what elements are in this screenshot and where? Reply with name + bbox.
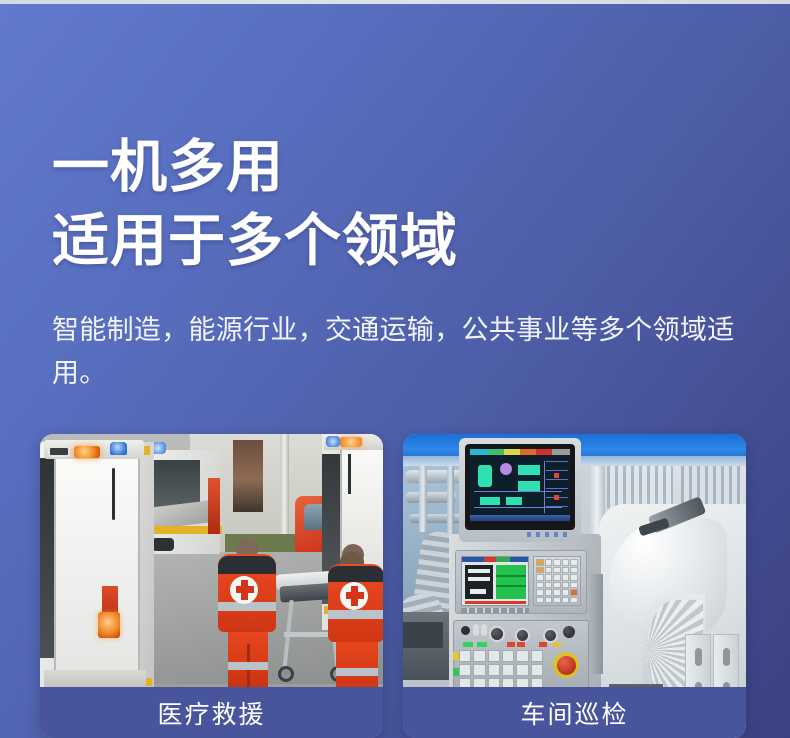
feature-card-workshop-inspection[interactable]: 车间巡检 [403,434,746,738]
subtitle-text: 智能制造，能源行业，交通运输，公共事业等多个领域适用。 [52,309,758,395]
feature-card-medical-rescue[interactable]: 医疗救援 [40,434,383,738]
cnc-keypad [533,556,581,606]
promo-banner: 一机多用 适用于多个领域 智能制造，能源行业，交通运输，公共事业等多个领域适用。 [0,0,790,738]
page-title: 一机多用 适用于多个领域 [52,130,752,278]
card-caption-medical-rescue: 医疗救援 [40,687,383,738]
operator-keypad [459,650,543,690]
top-edge-strip [0,0,790,4]
emergency-stop-button [557,656,576,675]
scada-display [470,449,570,521]
headline-line-1: 一机多用 [52,130,752,204]
headline-line-2: 适用于多个领域 [52,204,752,278]
card-caption-workshop-inspection: 车间巡检 [403,687,746,738]
cnc-display [461,556,529,606]
